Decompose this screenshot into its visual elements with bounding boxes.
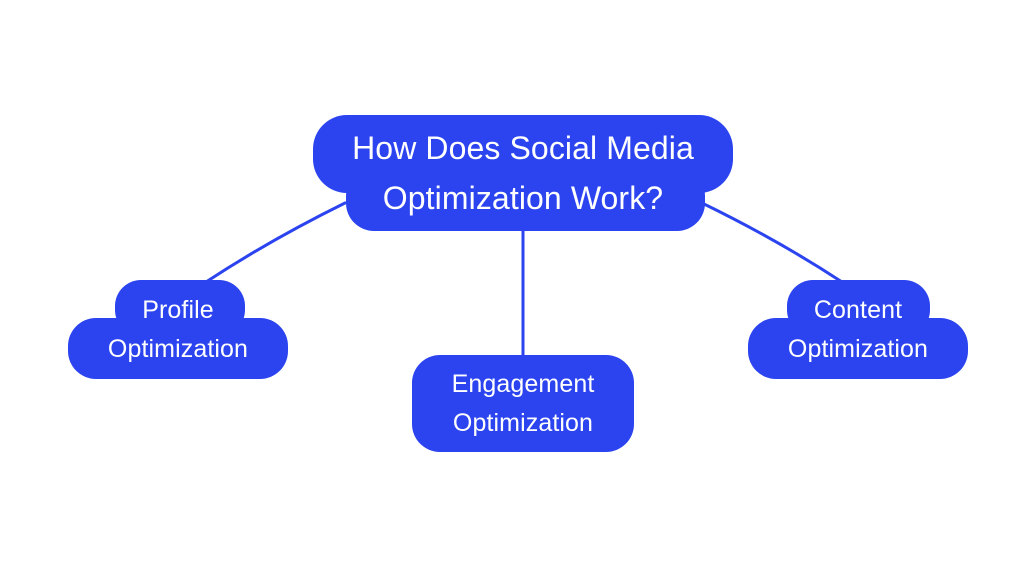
- content-label: Content Optimization: [748, 280, 968, 379]
- engagement-label-line-1: Engagement: [452, 365, 595, 404]
- mindmap-node-content-optimization[interactable]: Content Optimization: [748, 280, 968, 379]
- root-label-line-1: How Does Social Media: [352, 123, 694, 173]
- profile-label-line-1: Profile: [142, 291, 214, 330]
- mindmap-node-root[interactable]: How Does Social Media Optimization Work?: [313, 115, 733, 231]
- engagement-label-line-2: Optimization: [453, 404, 593, 443]
- mindmap-node-engagement-optimization[interactable]: Engagement Optimization: [412, 355, 634, 452]
- engagement-label: Engagement Optimization: [412, 355, 634, 452]
- content-label-line-2: Optimization: [788, 330, 928, 369]
- mindmap-canvas: How Does Social Media Optimization Work?…: [0, 0, 1024, 576]
- root-label: How Does Social Media Optimization Work?: [313, 115, 733, 231]
- mindmap-node-profile-optimization[interactable]: Profile Optimization: [68, 280, 288, 379]
- content-label-line-1: Content: [814, 291, 902, 330]
- profile-label: Profile Optimization: [68, 280, 288, 379]
- root-label-line-2: Optimization Work?: [383, 173, 663, 223]
- profile-label-line-2: Optimization: [108, 330, 248, 369]
